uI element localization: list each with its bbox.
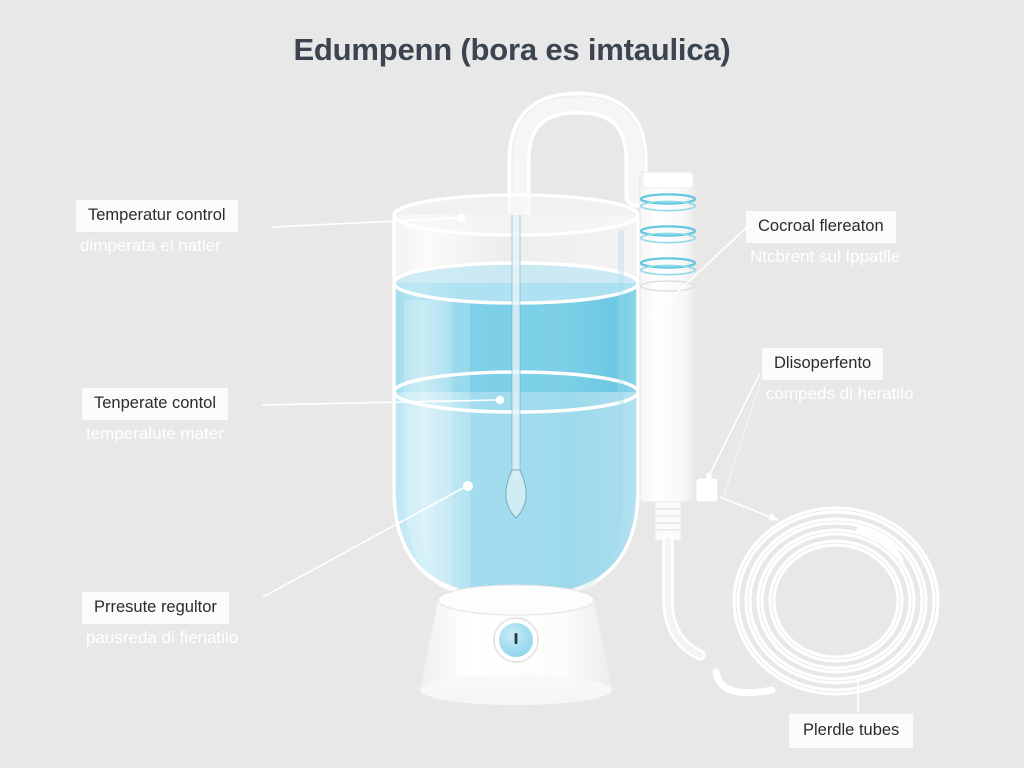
coiled-tubing bbox=[716, 510, 936, 693]
filter-column bbox=[640, 172, 718, 655]
callout-label: Temperatur control bbox=[76, 200, 238, 232]
callout-label: Cocroal flereaton bbox=[746, 211, 896, 243]
power-button[interactable] bbox=[494, 618, 538, 662]
callout-temperatur-control[interactable]: Temperatur control dimperata el natler bbox=[76, 200, 238, 256]
callout-cocroal-flereaton[interactable]: Cocroal flereaton Ntcbrent sul Ippatlle bbox=[746, 211, 900, 267]
callout-subtitle: temperalute mater bbox=[82, 424, 228, 444]
callout-label: Tenperate contol bbox=[82, 388, 228, 420]
callout-tenperate-contol[interactable]: Tenperate contol temperalute mater bbox=[82, 388, 228, 444]
callout-subtitle: pausreda di fieriatilo bbox=[82, 628, 238, 648]
callout-label: Dlisoperfento bbox=[762, 348, 883, 380]
callout-plerdle-tubes[interactable]: Plerdle tubes bbox=[789, 714, 913, 748]
appliance-base bbox=[420, 585, 612, 705]
callout-label: Plerdle tubes bbox=[789, 714, 913, 748]
callout-prresute-regultor[interactable]: Prresute regultor pausreda di fieriatilo bbox=[82, 592, 238, 648]
callout-subtitle: Ntcbrent sul Ippatlle bbox=[746, 247, 900, 267]
diagram-canvas: Edumpenn (bora es imtaulica) bbox=[0, 0, 1024, 768]
callout-subtitle: compeds di heratilo bbox=[762, 384, 913, 404]
callout-label: Prresute regultor bbox=[82, 592, 229, 624]
callout-dlisoperfento[interactable]: Dlisoperfento compeds di heratilo bbox=[762, 348, 913, 404]
callout-subtitle: dimperata el natler bbox=[76, 236, 238, 256]
